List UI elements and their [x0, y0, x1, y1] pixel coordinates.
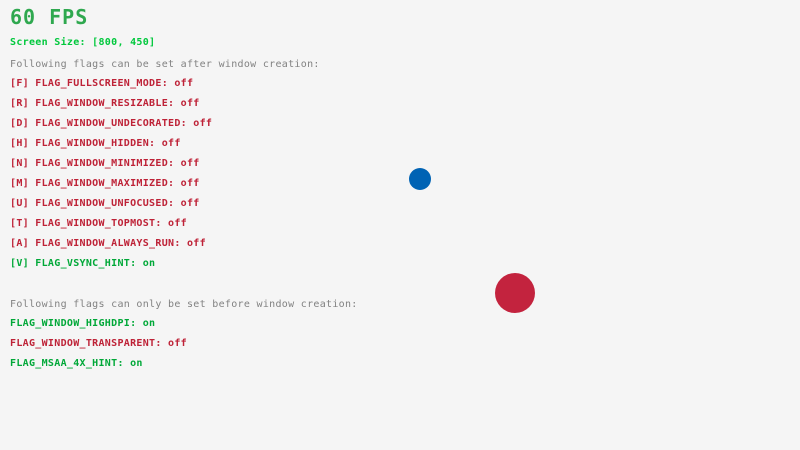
flag-row-window-undecorated[interactable]: [D] FLAG_WINDOW_UNDECORATED: off — [10, 119, 212, 129]
flag-row-window-minimized[interactable]: [N] FLAG_WINDOW_MINIMIZED: off — [10, 159, 200, 169]
flag-row-msaa-4x-hint: FLAG_MSAA_4X_HINT: on — [10, 359, 143, 369]
flag-row-window-highdpi: FLAG_WINDOW_HIGHDPI: on — [10, 319, 155, 329]
flag-row-window-unfocused[interactable]: [U] FLAG_WINDOW_UNFOCUSED: off — [10, 199, 200, 209]
flag-row-window-always-run[interactable]: [A] FLAG_WINDOW_ALWAYS_RUN: off — [10, 239, 206, 249]
flag-row-window-topmost[interactable]: [T] FLAG_WINDOW_TOPMOST: off — [10, 219, 187, 229]
flag-row-window-maximized[interactable]: [M] FLAG_WINDOW_MAXIMIZED: off — [10, 179, 200, 189]
flag-row-window-transparent: FLAG_WINDOW_TRANSPARENT: off — [10, 339, 187, 349]
raylib-window-flags-demo: 60 FPS Screen Size: [800, 450] Following… — [0, 0, 800, 450]
ball-red-circle — [495, 273, 535, 313]
ball-blue-circle — [409, 168, 431, 190]
flag-row-fullscreen-mode[interactable]: [F] FLAG_FULLSCREEN_MODE: off — [10, 79, 193, 89]
section-header-before-creation: Following flags can only be set before w… — [10, 300, 358, 310]
fps-counter: 60 FPS — [10, 7, 88, 27]
section-header-after-creation: Following flags can be set after window … — [10, 60, 320, 70]
flag-row-window-hidden[interactable]: [H] FLAG_WINDOW_HIDDEN: off — [10, 139, 181, 149]
screen-size-label: Screen Size: [800, 450] — [10, 38, 155, 48]
flag-row-vsync-hint[interactable]: [V] FLAG_VSYNC_HINT: on — [10, 259, 155, 269]
flag-row-window-resizable[interactable]: [R] FLAG_WINDOW_RESIZABLE: off — [10, 99, 200, 109]
